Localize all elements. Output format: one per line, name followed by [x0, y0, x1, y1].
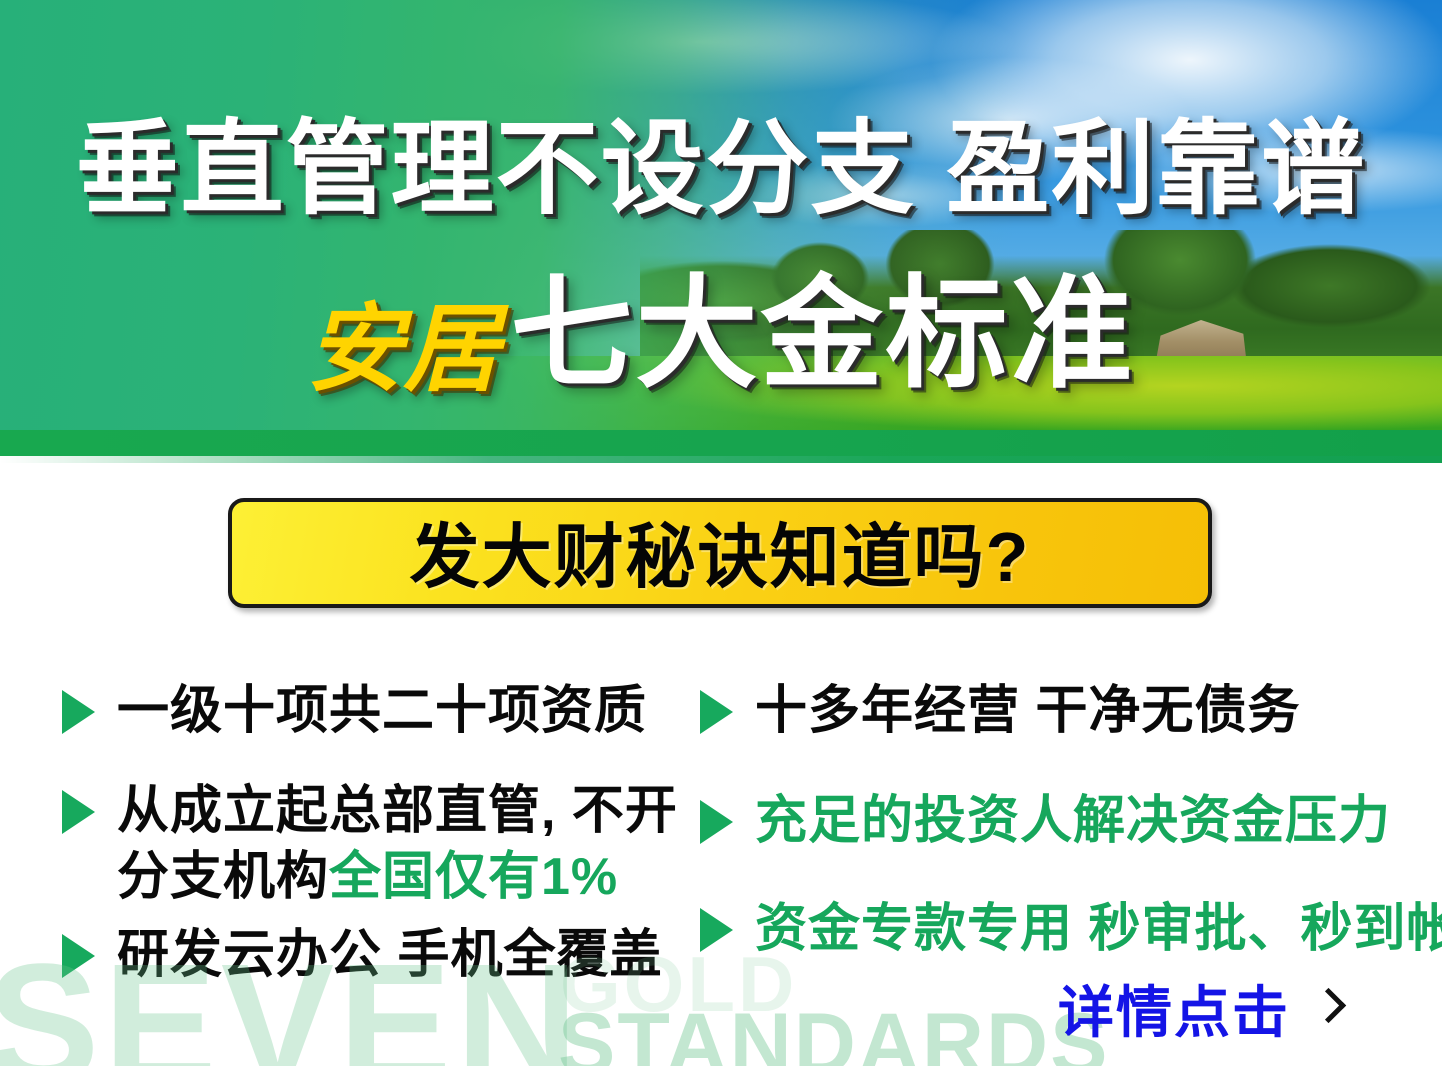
- feature-item-right-1: 十多年经营 干净无债务: [700, 678, 1300, 744]
- feature-line-2: 分支机构: [117, 848, 329, 906]
- feature-item-left-2: 从成立起总部直管, 不开 分支机构全国仅有1%: [62, 778, 678, 910]
- feature-line-1: 一级十项共二十项资质: [117, 682, 647, 740]
- feature-highlight: 全国仅有1%: [329, 848, 618, 906]
- feature-text-left-2: 从成立起总部直管, 不开 分支机构全国仅有1%: [117, 778, 678, 910]
- hero-headline-secondary-main: 七大金标准: [511, 266, 1136, 402]
- feature-line-1: 从成立起总部直管, 不开: [117, 782, 678, 840]
- details-cta-label: 详情点击: [1058, 968, 1290, 1049]
- details-cta-link[interactable]: 详情点击: [1058, 968, 1340, 1049]
- chevron-right-icon: [1314, 987, 1340, 1031]
- green-triangle-icon: [700, 690, 733, 734]
- feature-item-left-3: 研发云办公 手机全覆盖: [62, 922, 662, 988]
- hero-green-hairline: [0, 456, 1442, 463]
- green-triangle-icon: [62, 690, 95, 734]
- yellow-banner-text: 发大财秘诀知道吗?: [410, 501, 1031, 602]
- feature-line-1: 研发云办公 手机全覆盖: [117, 926, 662, 984]
- feature-line-2-wrap: 分支机构全国仅有1%: [117, 844, 678, 910]
- feature-line-1: 十多年经营 干净无债务: [755, 682, 1300, 740]
- feature-line-1: 资金专款专用 秒审批、秒到帐: [755, 900, 1442, 958]
- feature-text-right-2: 充足的投资人解决资金压力: [755, 788, 1391, 854]
- feature-text-left-3: 研发云办公 手机全覆盖: [117, 922, 662, 988]
- yellow-question-banner[interactable]: 发大财秘诀知道吗?: [228, 498, 1212, 608]
- feature-item-right-3: 资金专款专用 秒审批、秒到帐: [700, 896, 1442, 962]
- promo-banner-page: 垂直管理不设分支 盈利靠谱 安居七大金标准 发大财秘诀知道吗? 一级十项共二十项…: [0, 0, 1442, 1066]
- green-triangle-icon: [700, 908, 733, 952]
- features-columns: 一级十项共二十项资质 从成立起总部直管, 不开 分支机构全国仅有1% 研发云办公…: [0, 660, 1442, 1000]
- feature-text-right-3: 资金专款专用 秒审批、秒到帐: [755, 896, 1442, 962]
- feature-text-right-1: 十多年经营 干净无债务: [755, 678, 1300, 744]
- hero-headline-secondary: 安居七大金标准: [0, 272, 1442, 434]
- green-triangle-icon: [700, 800, 733, 844]
- green-triangle-icon: [62, 934, 95, 978]
- feature-item-right-2: 充足的投资人解决资金压力: [700, 788, 1391, 854]
- hero-headline-brand-prefix: 安居: [307, 296, 501, 403]
- green-triangle-icon: [62, 790, 95, 834]
- hero-section: 垂直管理不设分支 盈利靠谱 安居七大金标准: [0, 0, 1442, 463]
- hero-headline-primary: 垂直管理不设分支 盈利靠谱: [0, 113, 1442, 225]
- feature-text-left-1: 一级十项共二十项资质: [117, 678, 647, 744]
- watermark-standards: STANDARDS: [558, 1001, 1110, 1066]
- feature-item-left-1: 一级十项共二十项资质: [62, 678, 647, 744]
- feature-line-1: 充足的投资人解决资金压力: [755, 792, 1391, 850]
